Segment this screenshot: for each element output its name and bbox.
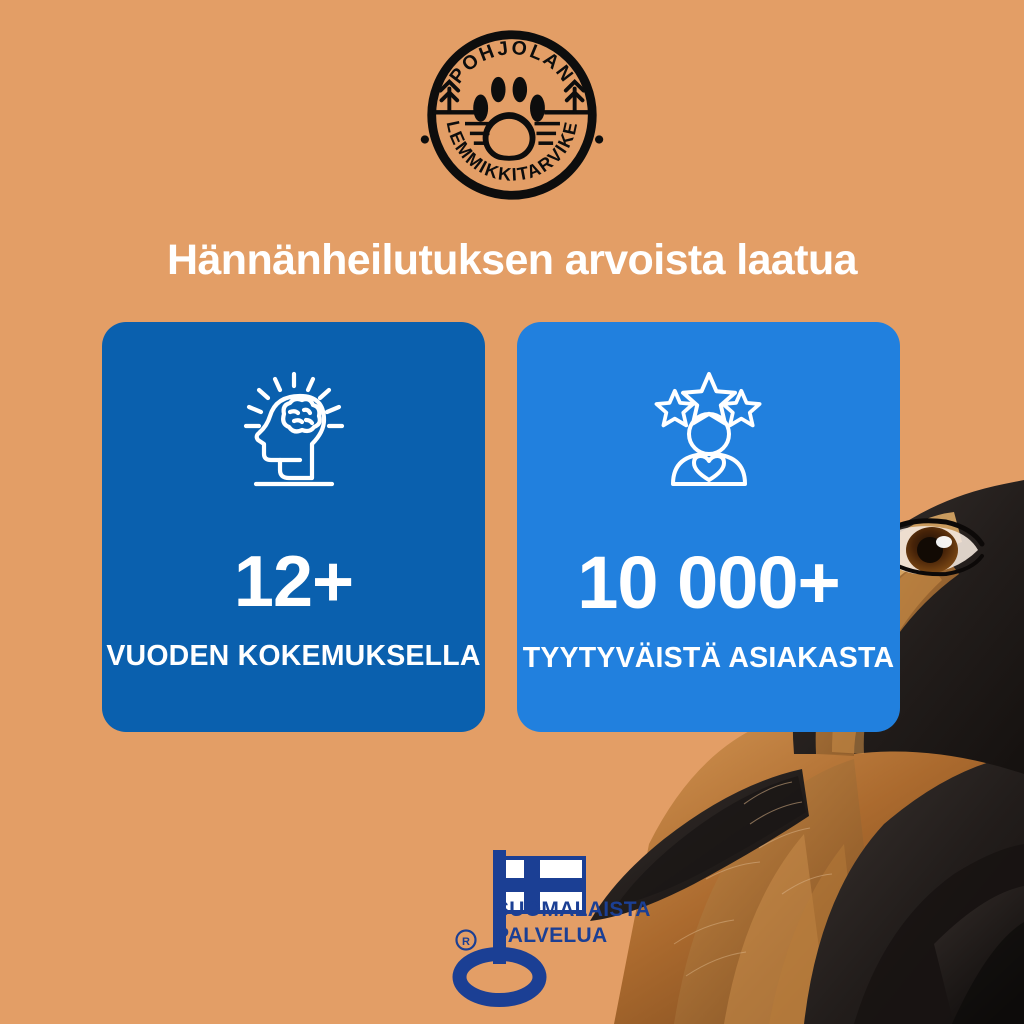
head-with-brain-icon [242,364,346,494]
stat-label-experience: VUODEN KOKEMUKSELLA [106,640,480,673]
svg-text:R: R [462,936,470,948]
person-with-stars-and-heart-icon [654,364,764,494]
page-title: Hännänheilutuksen arvoista laatua [0,238,1024,283]
avainlippu-line-1: SUOMALAISTA [495,897,651,923]
pine-tree-right-icon [566,82,584,112]
pine-tree-left-icon [441,82,459,112]
stat-label-customers: TYYTYVÄISTÄ ASIAKASTA [523,642,895,675]
stat-value-experience: 12+ [234,546,353,618]
stat-value-customers: 10 000+ [577,546,840,620]
promo-graphic: POHJOLAN LEMMIKKITARVIKE [0,0,1024,1024]
avainlippu-label: SUOMALAISTA PALVELUA [495,897,651,948]
stat-card-customers: 10 000+ TYYTYVÄISTÄ ASIAKASTA [517,322,900,732]
registered-mark-icon: R [457,931,476,950]
pohjolan-lemmikkitarvike-logo: POHJOLAN LEMMIKKITARVIKE [419,22,605,208]
stat-card-experience: 12+ VUODEN KOKEMUKSELLA [102,322,485,732]
avainlippu-line-2: PALVELUA [495,923,651,949]
